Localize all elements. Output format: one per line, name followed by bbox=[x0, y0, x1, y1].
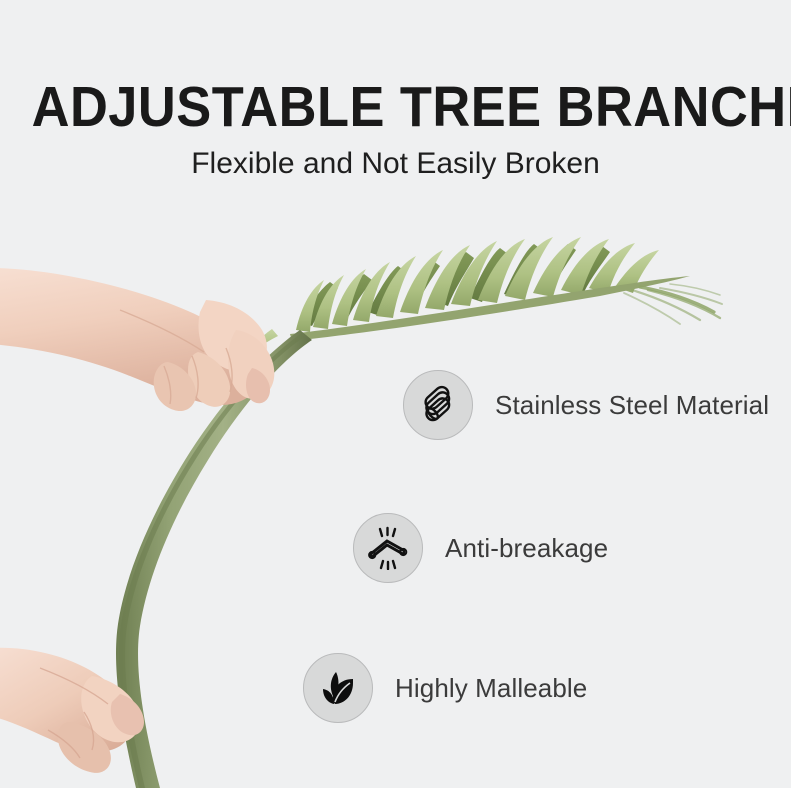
page-title: ADJUSTABLE TREE BRANCHES bbox=[32, 78, 760, 136]
steel-rods-icon bbox=[403, 370, 473, 440]
page-subtitle: Flexible and Not Easily Broken bbox=[0, 146, 791, 182]
feature-label: Highly Malleable bbox=[395, 673, 587, 704]
heading-block: ADJUSTABLE TREE BRANCHES Flexible and No… bbox=[0, 78, 791, 182]
feature-label: Stainless Steel Material bbox=[495, 390, 769, 421]
bent-rod-impact-icon bbox=[353, 513, 423, 583]
product-banner: ADJUSTABLE TREE BRANCHES Flexible and No… bbox=[0, 0, 791, 788]
leaf-cluster-icon bbox=[303, 653, 373, 723]
feature-item-stainless-steel: Stainless Steel Material bbox=[403, 370, 769, 440]
feature-item-highly-malleable: Highly Malleable bbox=[303, 653, 587, 723]
feature-item-anti-breakage: Anti-breakage bbox=[353, 513, 608, 583]
feature-label: Anti-breakage bbox=[445, 533, 608, 564]
